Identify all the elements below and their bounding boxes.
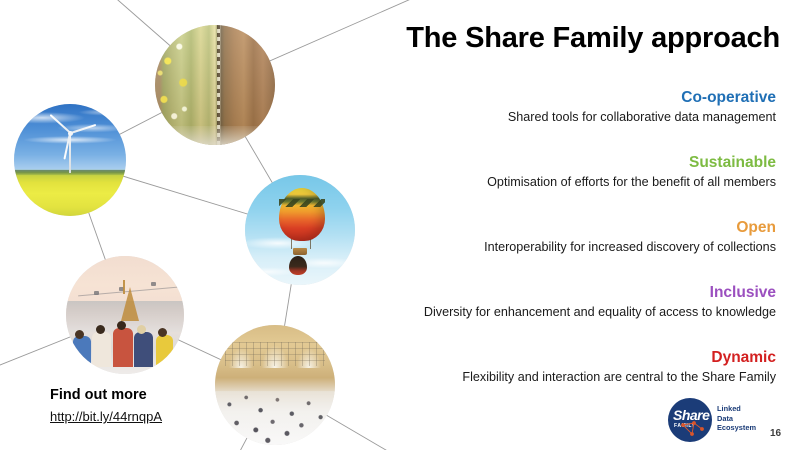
tower-structure [121,287,139,321]
logo-tagline-line-2: Data [717,414,756,424]
share-family-logo-mark: Share FAMILY [668,398,712,442]
share-family-logo: Share FAMILY Linked Data Eco [668,398,768,444]
person-1 [73,336,91,367]
turbine-hub [68,131,73,136]
person-3 [113,328,133,367]
balloon-basket [293,248,307,256]
value-heading-open: Open [316,218,776,237]
value-block-sustainable: Sustainable Optimisation of efforts for … [316,153,776,191]
value-description-inclusive: Diversity for enhancement and equality o… [316,304,776,321]
photo-node-wildflowers-and-stone-wall [155,25,275,145]
value-heading-dynamic: Dynamic [316,348,776,367]
station-window-grid [225,342,326,366]
slide-number: 16 [770,428,781,439]
find-out-more-link[interactable]: http://bit.ly/44rnqpA [50,408,162,425]
cable-car-3 [151,282,156,286]
wildflowers-and-stone-wall-image [155,25,275,145]
page-title: The Share Family approach [360,22,780,55]
logo-tagline: Linked Data Ecosystem [717,404,756,433]
presentation-slide: The Share Family approach Co-operative S… [0,0,800,450]
value-description-open: Interoperability for increased discovery… [316,239,776,256]
value-heading-inclusive: Inclusive [316,283,776,302]
value-block-inclusive: Inclusive Diversity for enhancement and … [316,283,776,321]
value-block-open: Open Interoperability for increased disc… [316,218,776,256]
station-crowd [215,387,335,445]
friends-viewpoint-image [66,256,184,374]
value-heading-co-operative: Co-operative [316,88,776,107]
find-out-more-title: Find out more [50,386,162,405]
wall-ground [155,126,275,145]
photo-node-wind-turbine-field [14,104,126,216]
person-4-head [137,325,146,334]
value-description-sustainable: Optimisation of efforts for the benefit … [316,174,776,191]
person-2 [92,332,111,367]
person-4 [134,332,153,367]
person-5 [156,335,174,367]
person-2-head [96,325,105,334]
wind-turbine-field-image [14,104,126,216]
photo-node-friends-viewpoint [66,256,184,374]
value-heading-sustainable: Sustainable [316,153,776,172]
logo-tagline-line-1: Linked [717,404,756,414]
value-description-dynamic: Flexibility and interaction are central … [316,369,776,386]
value-block-co-operative: Co-operative Shared tools for collaborat… [316,88,776,126]
value-block-dynamic: Dynamic Flexibility and interaction are … [316,348,776,386]
value-description-co-operative: Shared tools for collaborative data mana… [316,109,776,126]
balloon-secondary [289,256,307,275]
logo-network-dots-icon [668,398,712,442]
logo-tagline-line-3: Ecosystem [717,423,756,433]
balloon-zigzag-pattern [279,199,325,207]
find-out-more: Find out more http://bit.ly/44rnqpA [50,386,162,426]
cable-car-1 [94,291,99,295]
